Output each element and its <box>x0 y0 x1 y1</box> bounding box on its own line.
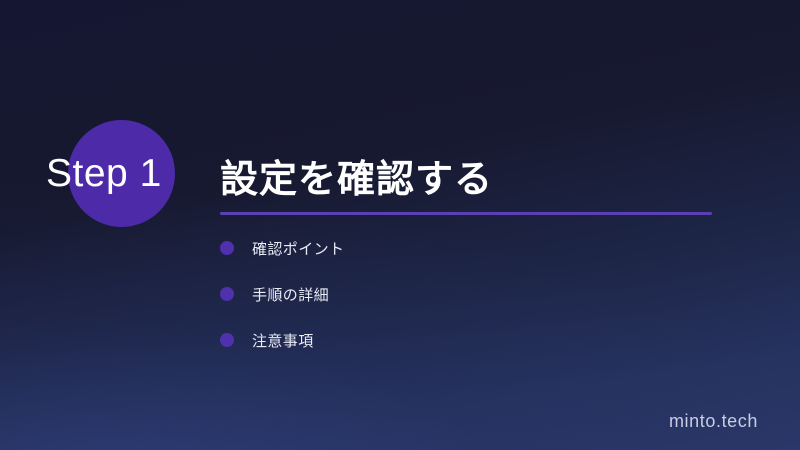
step-badge-label: Step 1 <box>46 152 162 196</box>
bullet-dot-icon <box>220 333 234 347</box>
list-item: 注意事項 <box>220 328 640 352</box>
slide-title: 設定を確認する <box>220 148 493 203</box>
bullet-list: 確認ポイント 手順の詳細 注意事項 <box>220 236 640 374</box>
bullet-dot-icon <box>220 241 234 255</box>
list-item-label: 手順の詳細 <box>252 284 329 305</box>
footer-branding: minto.tech <box>669 411 758 432</box>
list-item-label: 注意事項 <box>252 330 314 351</box>
slide-content: Step 1 設定を確認する 確認ポイント 手順の詳細 注意事項 minto.t… <box>0 0 800 450</box>
presentation-slide: Step 1 設定を確認する 確認ポイント 手順の詳細 注意事項 minto.t… <box>0 0 800 450</box>
list-item: 確認ポイント <box>220 236 640 260</box>
title-divider <box>220 212 712 215</box>
list-item: 手順の詳細 <box>220 282 640 306</box>
bullet-dot-icon <box>220 287 234 301</box>
list-item-label: 確認ポイント <box>252 238 344 259</box>
